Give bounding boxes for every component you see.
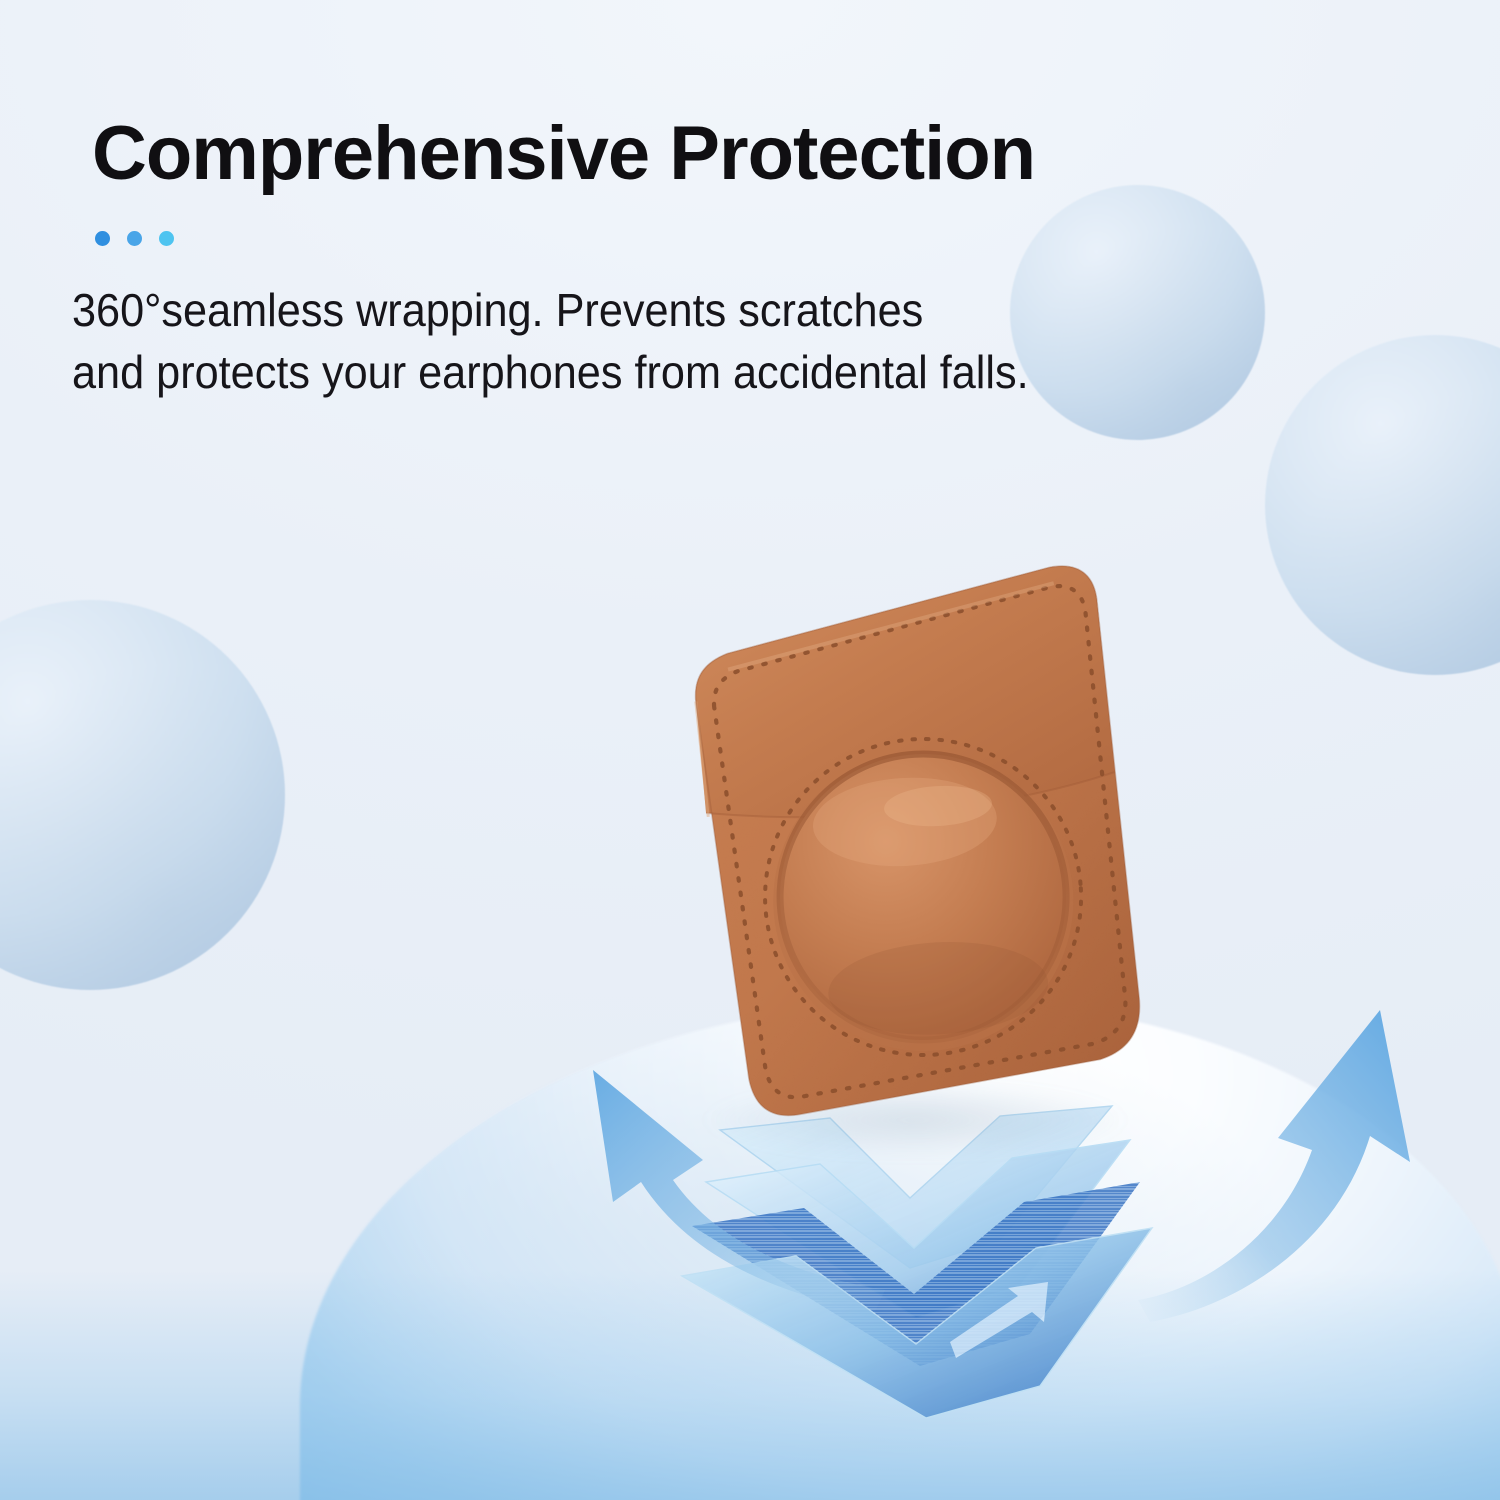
protection-arrow-right-icon xyxy=(1130,1000,1430,1330)
page-title: Comprehensive Protection xyxy=(92,110,1035,197)
marketing-image-canvas: Comprehensive Protection 360°seamless wr… xyxy=(0,0,1500,1500)
accent-dot-1-icon xyxy=(95,231,110,246)
product-image-leather-case xyxy=(653,557,1155,1127)
accent-dot-2-icon xyxy=(127,231,142,246)
page-subtitle: 360°seamless wrapping. Prevents scratche… xyxy=(72,280,1416,403)
subtitle-line-1: 360°seamless wrapping. Prevents scratche… xyxy=(72,280,1416,342)
subtitle-line-2: and protects your earphones from acciden… xyxy=(72,342,1416,404)
accent-dot-3-icon xyxy=(159,231,174,246)
accent-dots xyxy=(95,231,174,246)
